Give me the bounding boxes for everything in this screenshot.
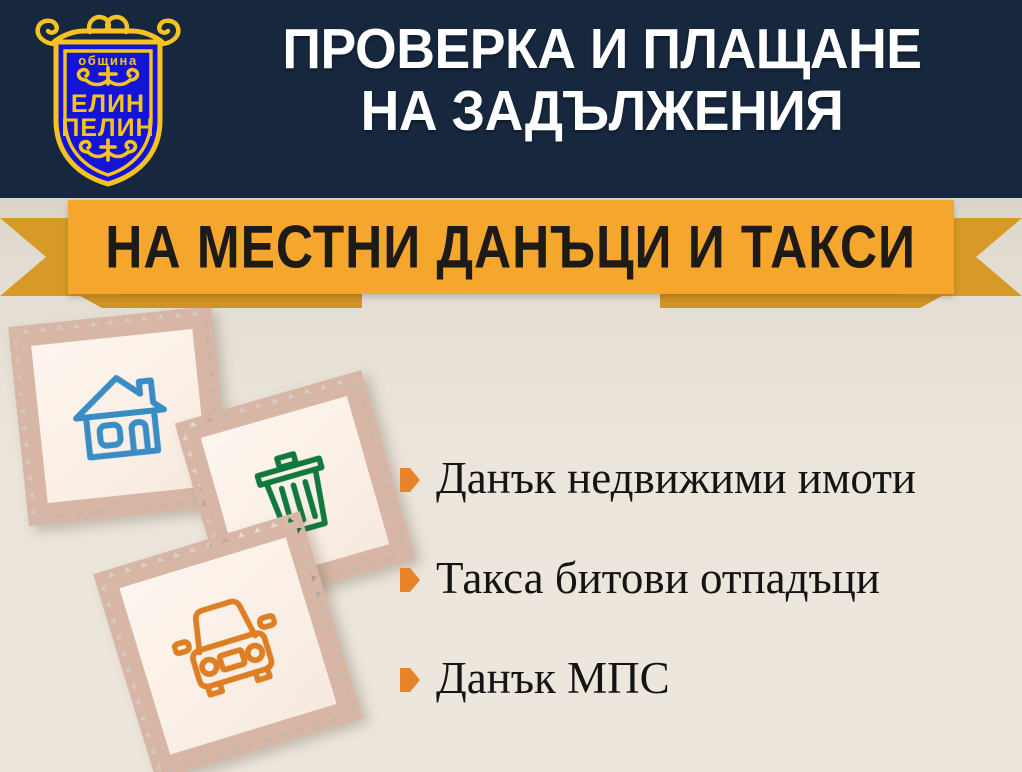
ribbon-banner: НА МЕСТНИ ДАНЪЦИ И ТАКСИ — [0, 198, 1022, 318]
page-title-line-1: ПРОВЕРКА И ПЛАЩАНЕ — [217, 18, 988, 80]
arrow-bullet-icon — [400, 668, 420, 692]
ribbon-main-panel: НА МЕСТНИ ДАНЪЦИ И ТАКСИ — [68, 200, 954, 294]
stamp-paper — [119, 537, 336, 754]
list-item-label: Данък недвижими имоти — [436, 453, 916, 503]
list-item-label: Данък МПС — [436, 653, 670, 703]
list-item-label: Такса битови отпадъци — [436, 553, 880, 603]
list-item[interactable]: Такса битови отпадъци — [400, 528, 1010, 628]
svg-text:ПЕЛИН: ПЕЛИН — [61, 114, 154, 142]
list-item[interactable]: Данък недвижими имоти — [400, 428, 1010, 528]
header-bar: община ЕЛИН ПЕЛИН — [0, 0, 1022, 198]
poster-canvas: община ЕЛИН ПЕЛИН — [0, 0, 1022, 772]
ribbon-label: НА МЕСТНИ ДАНЪЦИ И ТАКСИ — [106, 216, 917, 279]
svg-text:община: община — [78, 53, 138, 68]
coat-of-arms: община ЕЛИН ПЕЛИН — [28, 8, 188, 188]
tax-type-list: Данък недвижими имоти Такса битови отпад… — [400, 428, 1010, 728]
list-item[interactable]: Данък МПС — [400, 628, 1010, 728]
page-title: ПРОВЕРКА И ПЛАЩАНЕ НА ЗАДЪЛЖЕНИЯ — [217, 18, 988, 142]
house-icon — [65, 362, 175, 470]
stamp-paper — [31, 329, 209, 503]
arrow-bullet-icon — [400, 568, 420, 592]
page-title-line-2: НА ЗАДЪЛЖЕНИЯ — [217, 80, 988, 142]
arrow-bullet-icon — [400, 468, 420, 492]
car-front-icon — [161, 579, 296, 714]
